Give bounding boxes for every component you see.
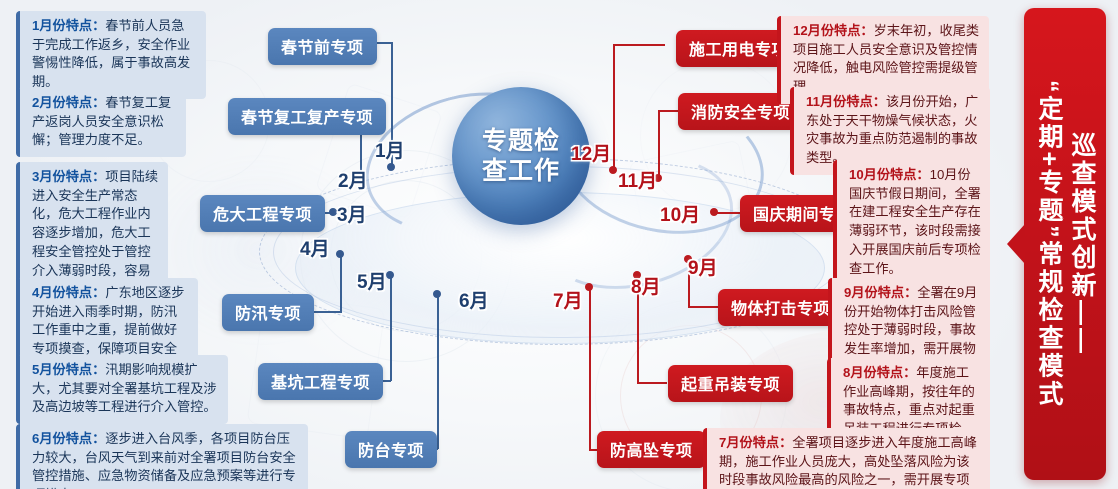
center-sphere: 专题检 查工作 bbox=[452, 87, 590, 225]
month-label-8: 8月 bbox=[631, 272, 661, 299]
note-title-11: 11月份特点： bbox=[806, 94, 886, 109]
note-title-5: 5月份特点： bbox=[32, 362, 105, 377]
tag-fangtai-zhuanxiang[interactable]: 防台专项 bbox=[345, 431, 437, 468]
note-title-2: 2月份特点： bbox=[32, 95, 105, 110]
note-title-6: 6月份特点： bbox=[32, 431, 105, 446]
note-month-2: 2月份特点：春节复工复产返岗人员安全意识松懈；管理力度不足。 bbox=[16, 88, 186, 157]
connector-line-9b bbox=[688, 306, 718, 308]
note-title-8: 8月份特点： bbox=[843, 365, 916, 380]
month-dot-5 bbox=[386, 271, 394, 279]
note-title-1: 1月份特点： bbox=[32, 18, 105, 33]
note-month-5: 5月份特点：汛期影响规模扩大，尤其要对全署基坑工程及涉及高边坡等工程进行介入管控… bbox=[16, 355, 228, 424]
month-dot-7 bbox=[585, 283, 593, 291]
month-label-7: 7月 bbox=[553, 286, 583, 313]
connector-line-7 bbox=[589, 287, 591, 450]
month-dot-12 bbox=[609, 166, 617, 174]
note-body-10: 10月份国庆节假日期间，全署在建工程安全生产存在薄弱环节，该时段需接入开展国庆前… bbox=[849, 167, 981, 276]
tag-jikeng-gongcheng[interactable]: 基坑工程专项 bbox=[258, 363, 383, 400]
center-title-line1: 专题检 bbox=[482, 126, 560, 157]
connector-line-8b bbox=[637, 382, 667, 384]
tag-qizhong-diaozhuang[interactable]: 起重吊装专项 bbox=[668, 365, 793, 402]
month-dot-3 bbox=[329, 208, 337, 216]
month-label-9: 9月 bbox=[688, 253, 718, 280]
month-label-3: 3月 bbox=[337, 200, 367, 227]
banner-text-line2: “定期+专题”常规检查模式 bbox=[1032, 66, 1065, 423]
month-label-6: 6月 bbox=[459, 286, 489, 313]
tag-chunjie-fugong-fuchan[interactable]: 春节复工复产专项 bbox=[228, 98, 386, 135]
connector-line-12 bbox=[613, 44, 615, 170]
side-banner: “定期+专题”常规检查模式 巡查模式创新—— bbox=[1024, 8, 1106, 480]
month-label-5: 5月 bbox=[357, 267, 387, 294]
center-title-line2: 查工作 bbox=[482, 156, 560, 187]
month-label-11: 11月 bbox=[618, 166, 657, 193]
month-dot-6 bbox=[433, 290, 441, 298]
month-label-10: 10月 bbox=[660, 200, 700, 227]
note-month-1: 1月份特点：春节前人员急于完成工作返乡，安全作业警惕性降低，属于事故高发期。 bbox=[16, 11, 206, 99]
connector-line-11b bbox=[658, 110, 678, 112]
tag-fangxun-zhuanxiang[interactable]: 防汛专项 bbox=[222, 294, 314, 331]
month-dot-10 bbox=[710, 208, 718, 216]
banner-text-line1: 巡查模式创新—— bbox=[1065, 118, 1098, 370]
infographic-canvas: 专题检 查工作 1月 2月 3月 4月 5月 6 bbox=[0, 0, 1118, 489]
month-label-12: 12月 bbox=[571, 139, 611, 166]
note-title-3: 3月份特点： bbox=[32, 169, 105, 184]
month-label-1: 1月 bbox=[375, 136, 405, 163]
connector-line-12b bbox=[613, 44, 665, 46]
month-dot-4 bbox=[336, 250, 344, 258]
connector-line-5 bbox=[390, 275, 392, 381]
connector-line-6 bbox=[437, 295, 439, 449]
connector-line-4 bbox=[340, 255, 342, 313]
month-label-2: 2月 bbox=[338, 166, 368, 193]
month-dot-1 bbox=[387, 163, 395, 171]
note-title-10: 10月份特点： bbox=[849, 167, 930, 182]
tag-chunjieqian-zhuanxiang[interactable]: 春节前专项 bbox=[268, 28, 377, 65]
center-title: 专题检 查工作 bbox=[482, 126, 560, 187]
tag-fanggaozhui-zhuanxiang[interactable]: 防高坠专项 bbox=[597, 431, 706, 468]
tag-weida-gongcheng[interactable]: 危大工程专项 bbox=[200, 195, 325, 232]
connector-line-11 bbox=[658, 110, 660, 178]
note-title-4: 4月份特点： bbox=[32, 285, 105, 300]
note-title-7: 7月份特点： bbox=[719, 435, 792, 450]
note-month-10: 10月份特点：10月份国庆节假日期间，全署在建工程安全生产存在薄弱环节，该时段需… bbox=[833, 160, 990, 285]
tag-wuti-daji[interactable]: 物体打击专项 bbox=[718, 289, 843, 326]
note-title-9: 9月份特点： bbox=[844, 285, 917, 300]
banner-arrow-icon bbox=[1007, 224, 1025, 264]
note-month-7: 7月份特点：全署项目逐步进入年度施工高峰期，施工作业人员庞大，高处坠落风险为该时… bbox=[703, 428, 990, 489]
note-month-6: 6月份特点：逐步进入台风季，各项目防台压力较大，台风天气到来前对全署项目防台安全… bbox=[16, 424, 308, 489]
note-title-12: 12月份特点： bbox=[793, 23, 874, 38]
month-label-4: 4月 bbox=[300, 234, 330, 261]
